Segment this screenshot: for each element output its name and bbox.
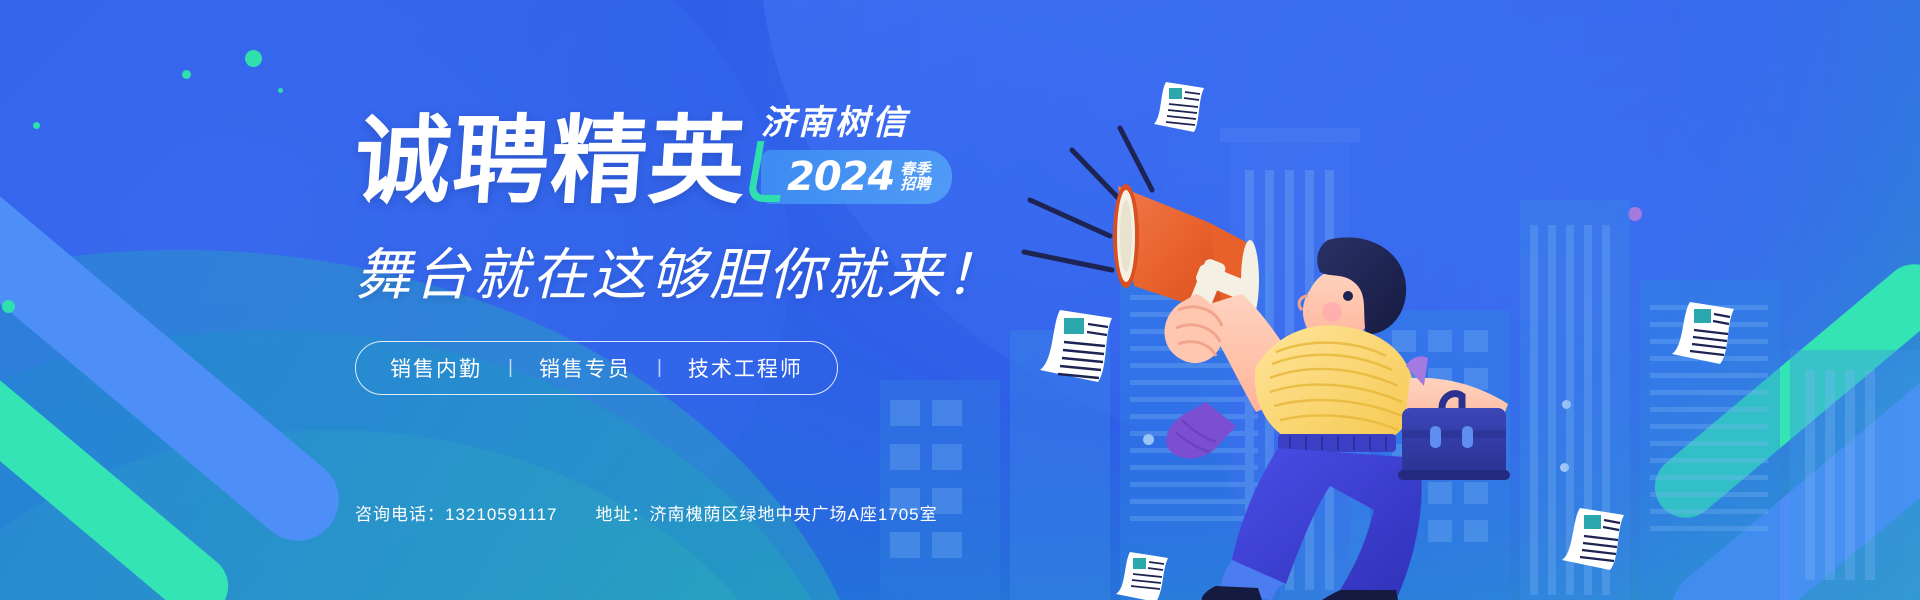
- positions-pill: 销售内勤 | 销售专员 | 技术工程师: [355, 341, 838, 395]
- contact-info: 咨询电话：13210591117 地址：济南槐荫区绿地中央广场A座1705室: [355, 500, 938, 525]
- shoe-purple: [1166, 402, 1236, 459]
- decor-bar-teal-left: [0, 312, 241, 600]
- decor-dot-teal-5: [2, 300, 15, 313]
- resume-paper-icon-5: [1112, 546, 1174, 600]
- decor-bar-light-blue-left: [0, 160, 356, 557]
- recruitment-banner: 诚聘精英 济南树信 2024 春季 招聘 舞台就在这够胆你就来！ 销售内勤 | …: [0, 0, 1920, 600]
- badge-season: 春季 招聘: [900, 162, 930, 193]
- position-separator-1: |: [482, 357, 539, 379]
- pants: [1202, 434, 1422, 600]
- contact-address: 地址：济南槐荫区绿地中央广场A座1705室: [595, 500, 937, 525]
- decor-dot-teal-1: [245, 50, 262, 67]
- resume-paper-icon-1: [1148, 72, 1210, 138]
- brand-name: 济南树信: [761, 95, 952, 144]
- page-title: 诚聘精英: [351, 111, 750, 212]
- position-item-3: 技术工程师: [688, 353, 803, 383]
- resume-paper-icon-2: [1036, 298, 1122, 388]
- subheadline: 舞台就在这够胆你就来！: [355, 230, 1085, 311]
- resume-paper-icon-4: [1558, 498, 1632, 576]
- position-item-1: 销售内勤: [390, 353, 482, 383]
- headline-row: 诚聘精英 济南树信 2024 春季 招聘: [355, 95, 1085, 212]
- decor-dot-teal-3: [278, 88, 283, 93]
- recruitment-badge: 2024 春季 招聘: [761, 150, 952, 204]
- badge-season-line1: 春季: [900, 162, 930, 177]
- banner-content: 诚聘精英 济南树信 2024 春季 招聘 舞台就在这够胆你就来！ 销售内勤 | …: [355, 95, 1085, 395]
- contact-phone: 咨询电话：13210591117: [355, 500, 557, 525]
- position-separator-2: |: [631, 357, 688, 379]
- resume-paper-icon-3: [1668, 292, 1742, 370]
- badge-season-line2: 招聘: [900, 177, 930, 192]
- badge-year: 2024: [787, 157, 894, 197]
- brand-block: 济南树信 2024 春季 招聘: [761, 95, 952, 212]
- decor-dot-teal-4: [33, 122, 40, 129]
- decor-dot-teal-2: [182, 70, 191, 79]
- position-item-2: 销售专员: [539, 353, 631, 383]
